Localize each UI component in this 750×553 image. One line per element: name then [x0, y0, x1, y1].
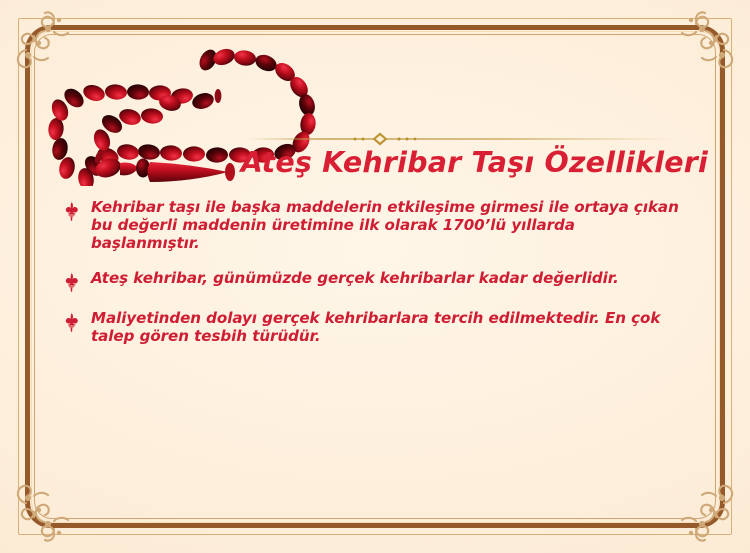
swirl-corner-ornament-bottom-right	[666, 469, 740, 543]
list-item-text: Maliyetinden dolayı gerçek kehribarlara …	[91, 310, 688, 346]
fleur-de-lis-icon	[63, 201, 80, 221]
list-item-text: Ateş kehribar, günümüzde gerçek kehribar…	[91, 270, 619, 288]
gold-diamond-divider	[247, 131, 677, 145]
list-item: Kehribar taşı ile başka maddelerin etkil…	[63, 199, 688, 252]
info-card: Ateş Kehribar Taşı Özellikleri Kehribar …	[0, 0, 750, 553]
list-item: Maliyetinden dolayı gerçek kehribarlara …	[63, 310, 688, 346]
list-item: Ateş kehribar, günümüzde gerçek kehribar…	[63, 270, 688, 292]
swirl-corner-ornament-bottom-left	[10, 469, 84, 543]
list-item-text: Kehribar taşı ile başka maddelerin etkil…	[91, 199, 688, 252]
swirl-corner-ornament-top-right	[666, 10, 740, 84]
fleur-de-lis-icon	[63, 312, 80, 332]
swirl-corner-ornament-top-left	[10, 10, 84, 84]
page-title: Ateş Kehribar Taşı Özellikleri	[0, 146, 708, 179]
feature-list: Kehribar taşı ile başka maddelerin etkil…	[63, 199, 688, 364]
fleur-de-lis-icon	[63, 272, 80, 292]
